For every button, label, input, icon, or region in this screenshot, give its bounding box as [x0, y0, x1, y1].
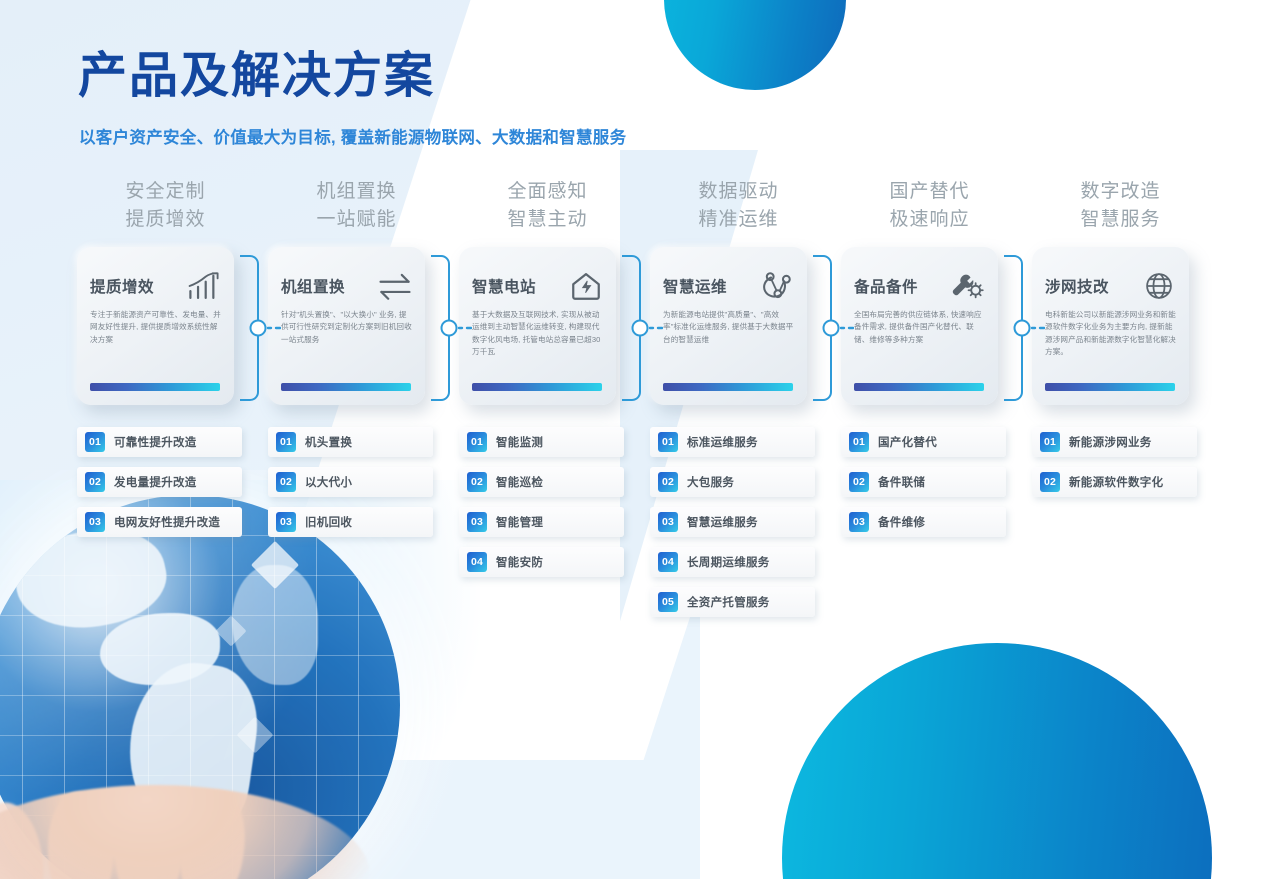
list-item[interactable]: 01 可靠性提升改造: [77, 427, 242, 457]
column-tiztizengxiao: 安全定制 提质增效 提质增效: [70, 178, 261, 627]
column-jizuzhihuan: 机组置换 一站赋能 机组置换: [261, 178, 452, 627]
column-zhihuidianzhan: 全面感知 智慧主动 智慧电站 基于大数据及互联网技术, 实现从被动运维: [452, 178, 643, 627]
column-heading: 安全定制 提质增效: [70, 178, 261, 239]
item-number-badge: 02: [85, 472, 105, 492]
list-item[interactable]: 05 全资产托管服务: [650, 587, 815, 617]
item-number-badge: 01: [276, 432, 296, 452]
column-beipinbeijian: 国产替代 极速响应 备品备件 全国布: [834, 178, 1025, 627]
card-accent-bar: [663, 383, 793, 391]
card-description: 电科新能公司以新能源涉网业务和新能源软件数字化业务为主要方向, 提新能源涉网产品…: [1045, 309, 1176, 358]
column-heading: 机组置换 一站赋能: [261, 178, 452, 239]
item-label: 大包服务: [687, 474, 734, 490]
card-description: 专注于新能源资产可靠性、发电量、并网友好性提升, 提供提质增效系统性解决方案: [90, 309, 221, 346]
item-number-badge: 03: [85, 512, 105, 532]
item-label: 新能源涉网业务: [1069, 434, 1152, 450]
list-item[interactable]: 03 智能管理: [459, 507, 624, 537]
item-label: 可靠性提升改造: [114, 434, 197, 450]
sub-item-list: 01 标准运维服务 02 大包服务 03 智慧运维服务 04 长周期运维服务 0…: [643, 427, 834, 617]
solution-card[interactable]: 智慧运维 为新能源电站提供"高质量"、"高效率"标准化运维服务, 提供基于大: [650, 247, 807, 405]
solution-card[interactable]: 智慧电站 基于大数据及互联网技术, 实现从被动运维到主动智慧化运维转变, 构建现…: [459, 247, 616, 405]
bottom-circle-decoration: [782, 643, 1212, 879]
sub-item-list: 01 可靠性提升改造 02 发电量提升改造 03 电网友好性提升改造: [70, 427, 261, 537]
wrench-gear-icon: [951, 271, 985, 301]
solution-card[interactable]: 备品备件 全国布局完善的供应链体系, 快速响应备件需求, 提供备件国产化替代、联…: [841, 247, 998, 405]
item-label: 以大代小: [305, 474, 352, 490]
card-title: 备品备件: [854, 275, 918, 297]
list-item[interactable]: 01 国产化替代: [841, 427, 1006, 457]
column-heading: 全面感知 智慧主动: [452, 178, 643, 239]
list-item[interactable]: 02 智能巡检: [459, 467, 624, 497]
card-description: 针对"机头置换"、"以大换小" 业务, 提供可行性研究到定制化方案到旧机回收一站…: [281, 309, 412, 346]
column-shewangjigai: 数字改造 智慧服务 涉网技改 电科新: [1025, 178, 1216, 627]
column-heading-line2: 提质增效: [70, 206, 261, 234]
item-number-badge: 04: [467, 552, 487, 572]
column-heading-line1: 安全定制: [125, 181, 205, 202]
item-label: 旧机回收: [305, 514, 352, 530]
list-item[interactable]: 02 大包服务: [650, 467, 815, 497]
page-subtitle: 以客户资产安全、价值最大为目标, 覆盖新能源物联网、大数据和智慧服务: [79, 124, 626, 148]
list-item[interactable]: 03 电网友好性提升改造: [77, 507, 242, 537]
column-heading-line2: 一站赋能: [261, 206, 452, 234]
column-heading: 数字改造 智慧服务: [1025, 178, 1216, 239]
item-number-badge: 01: [1040, 432, 1060, 452]
column-heading-line2: 精准运维: [643, 206, 834, 234]
list-item[interactable]: 01 标准运维服务: [650, 427, 815, 457]
card-title: 提质增效: [90, 275, 154, 297]
list-item[interactable]: 02 新能源软件数字化: [1032, 467, 1197, 497]
card-description: 全国布局完善的供应链体系, 快速响应备件需求, 提供备件国产化替代、联储、维修等…: [854, 309, 985, 346]
item-number-badge: 03: [467, 512, 487, 532]
item-number-badge: 02: [467, 472, 487, 492]
column-heading-line1: 全面感知: [507, 181, 587, 202]
item-number-badge: 01: [849, 432, 869, 452]
card-title: 机组置换: [281, 275, 345, 297]
item-label: 智能巡检: [496, 474, 543, 490]
column-heading-line2: 极速响应: [834, 206, 1025, 234]
list-item[interactable]: 03 备件维修: [841, 507, 1006, 537]
item-number-badge: 01: [85, 432, 105, 452]
house-bolt-icon: [569, 271, 603, 301]
item-number-badge: 02: [849, 472, 869, 492]
card-description: 为新能源电站提供"高质量"、"高效率"标准化运维服务, 提供基于大数据平台的智慧…: [663, 309, 794, 346]
solution-card[interactable]: 涉网技改 电科新能公司以新能源涉网业务和新能源软件数字化业务为主要方向, 提新能…: [1032, 247, 1189, 405]
card-accent-bar: [1045, 383, 1175, 391]
item-number-badge: 03: [849, 512, 869, 532]
item-label: 备件联储: [878, 474, 925, 490]
sub-item-list: 01 国产化替代 02 备件联储 03 备件维修: [834, 427, 1025, 537]
solution-card[interactable]: 提质增效 专注于新能源资产可靠性、发电量、: [77, 247, 234, 405]
column-heading-line1: 机组置换: [316, 181, 396, 202]
sub-item-list: 01 机头置换 02 以大代小 03 旧机回收: [261, 427, 452, 537]
item-label: 全资产托管服务: [687, 594, 770, 610]
card-connector: [619, 253, 663, 403]
item-number-badge: 05: [658, 592, 678, 612]
item-label: 电网友好性提升改造: [114, 514, 220, 530]
card-description: 基于大数据及互联网技术, 实现从被动运维到主动智慧化运维转变, 构建现代数字化风…: [472, 309, 603, 358]
list-item[interactable]: 02 发电量提升改造: [77, 467, 242, 497]
item-number-badge: 04: [658, 552, 678, 572]
item-label: 新能源软件数字化: [1069, 474, 1163, 490]
item-number-badge: 02: [276, 472, 296, 492]
exchange-arrows-icon: [378, 271, 412, 301]
item-label: 智能管理: [496, 514, 543, 530]
column-heading-line1: 数据驱动: [698, 181, 778, 202]
item-number-badge: 02: [658, 472, 678, 492]
sub-item-list: 01 智能监测 02 智能巡检 03 智能管理 04 智能安防: [452, 427, 643, 577]
list-item[interactable]: 01 机头置换: [268, 427, 433, 457]
item-label: 备件维修: [878, 514, 925, 530]
card-connector: [1001, 253, 1045, 403]
list-item[interactable]: 01 智能监测: [459, 427, 624, 457]
card-title: 智慧电站: [472, 275, 536, 297]
list-item[interactable]: 03 旧机回收: [268, 507, 433, 537]
list-item[interactable]: 04 智能安防: [459, 547, 624, 577]
item-label: 智能监测: [496, 434, 543, 450]
solution-columns: 安全定制 提质增效 提质增效: [70, 178, 1220, 627]
item-number-badge: 01: [658, 432, 678, 452]
list-item[interactable]: 03 智慧运维服务: [650, 507, 815, 537]
column-heading-line2: 智慧服务: [1025, 206, 1216, 234]
column-heading: 数据驱动 精准运维: [643, 178, 834, 239]
item-label: 标准运维服务: [687, 434, 758, 450]
card-accent-bar: [90, 383, 220, 391]
column-heading: 国产替代 极速响应: [834, 178, 1025, 239]
bar-chart-growth-icon: [187, 271, 221, 301]
item-label: 国产化替代: [878, 434, 937, 450]
page-title: 产品及解决方案: [78, 52, 435, 101]
list-item[interactable]: 02 以大代小: [268, 467, 433, 497]
list-item[interactable]: 01 新能源涉网业务: [1032, 427, 1197, 457]
globe-grid-icon: [1142, 271, 1176, 301]
item-number-badge: 02: [1040, 472, 1060, 492]
card-accent-bar: [281, 383, 411, 391]
column-heading-line2: 智慧主动: [452, 206, 643, 234]
card-connector: [237, 253, 281, 403]
list-item[interactable]: 04 长周期运维服务: [650, 547, 815, 577]
card-connector: [810, 253, 854, 403]
card-title: 智慧运维: [663, 275, 727, 297]
column-heading-line1: 国产替代: [889, 181, 969, 202]
item-label: 发电量提升改造: [114, 474, 197, 490]
card-accent-bar: [472, 383, 602, 391]
item-label: 机头置换: [305, 434, 352, 450]
column-zhihuiyunwei: 数据驱动 精准运维 智慧运维: [643, 178, 834, 627]
item-label: 智能安防: [496, 554, 543, 570]
list-item[interactable]: 02 备件联储: [841, 467, 1006, 497]
sub-item-list: 01 新能源涉网业务 02 新能源软件数字化: [1025, 427, 1216, 497]
column-heading-line1: 数字改造: [1080, 181, 1160, 202]
solution-card[interactable]: 机组置换 针对"机头置换"、"以大换小" 业务, 提供可行性研究到定制化方案到旧…: [268, 247, 425, 405]
network-nodes-icon: [760, 271, 794, 301]
item-label: 智慧运维服务: [687, 514, 758, 530]
item-label: 长周期运维服务: [687, 554, 770, 570]
card-accent-bar: [854, 383, 984, 391]
item-number-badge: 03: [658, 512, 678, 532]
item-number-badge: 01: [467, 432, 487, 452]
card-title: 涉网技改: [1045, 275, 1109, 297]
card-connector: [428, 253, 472, 403]
item-number-badge: 03: [276, 512, 296, 532]
